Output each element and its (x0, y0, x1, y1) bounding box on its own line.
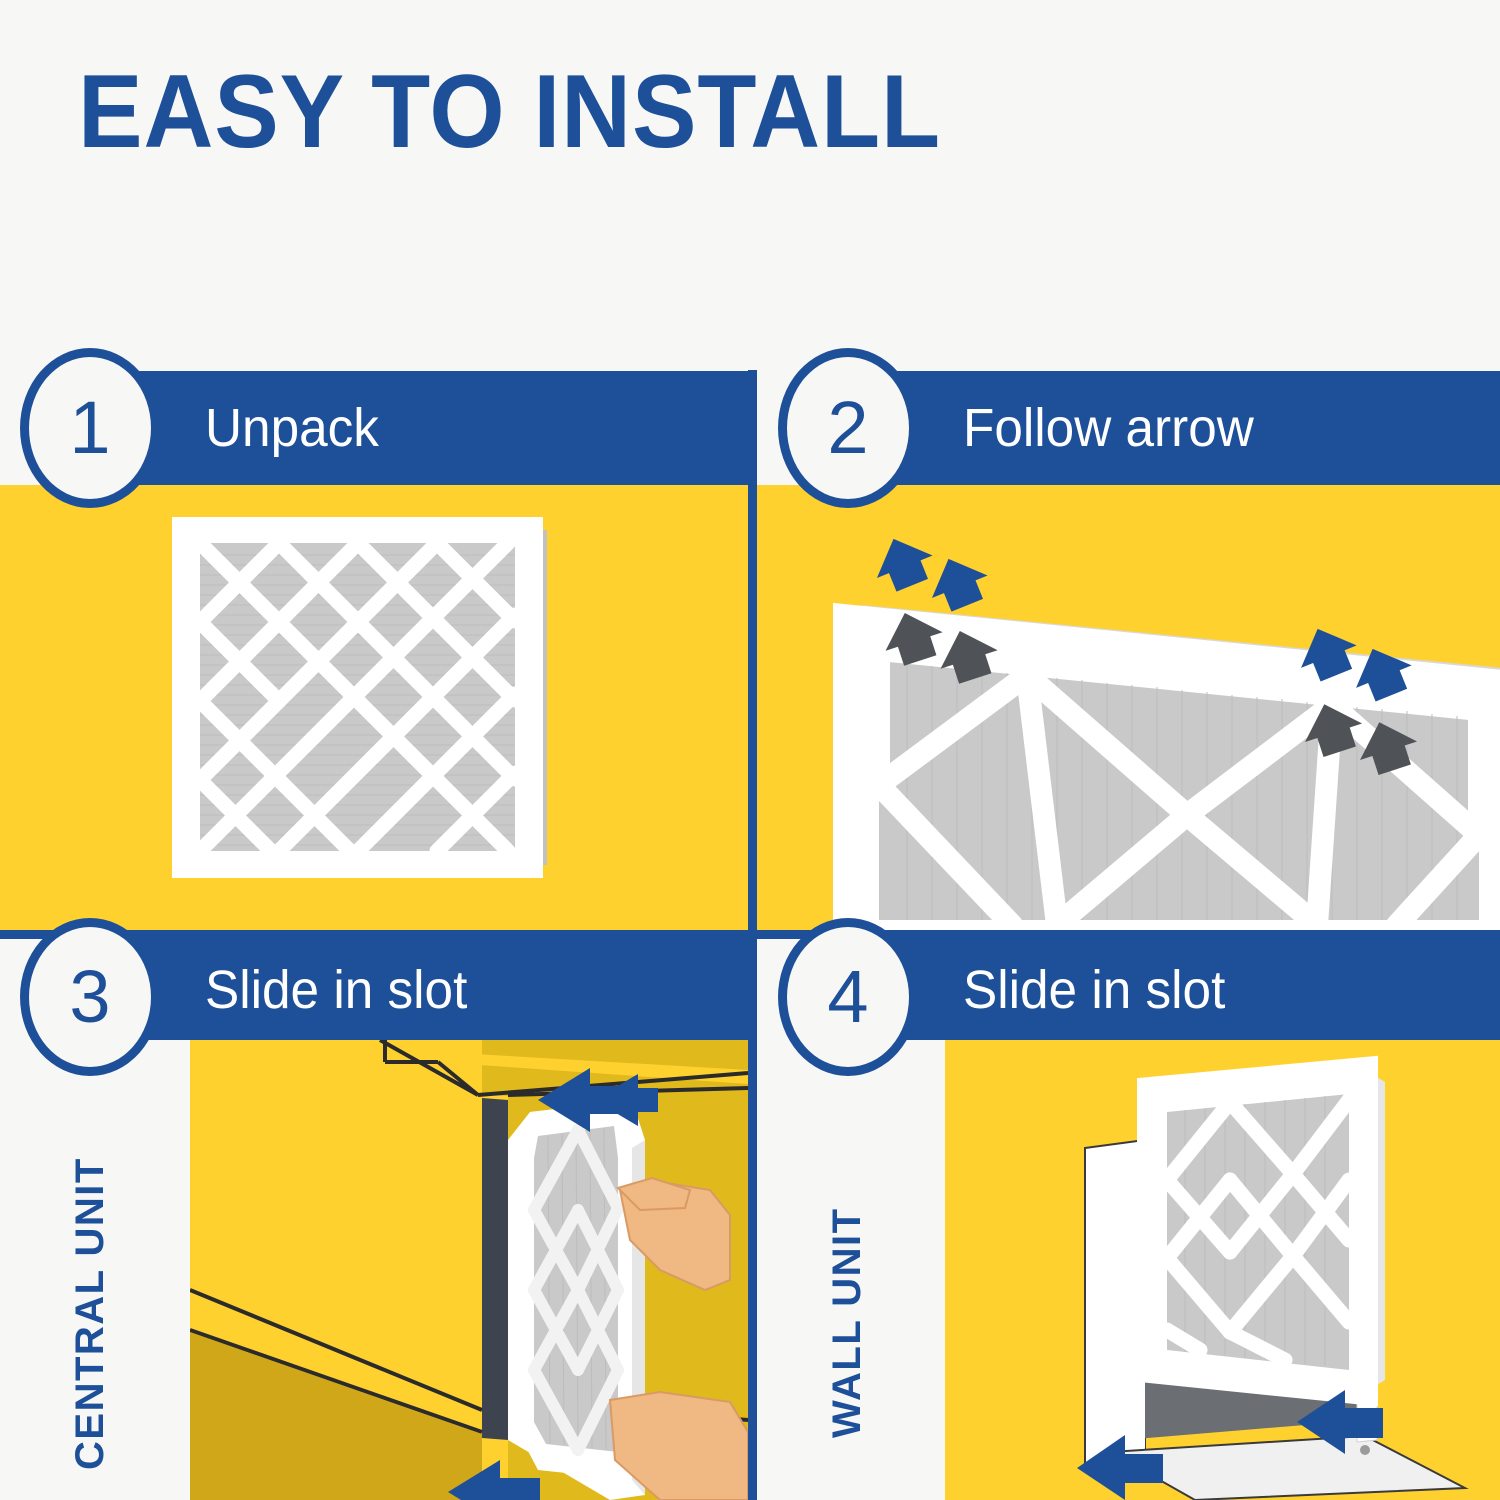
step-panel-1 (0, 485, 748, 930)
infographic-canvas: EASY TO INSTALL (0, 0, 1500, 1500)
step-panel-4 (945, 1040, 1500, 1500)
step-panel-3 (190, 1040, 748, 1500)
step-4-number-badge: 4 (778, 918, 918, 1076)
step-4-number: 4 (827, 960, 868, 1034)
row-divider (0, 930, 1500, 939)
airflow-arrow-blue-left (866, 528, 995, 617)
step-3-number-badge: 3 (20, 918, 160, 1076)
step-1-banner: Unpack (80, 371, 748, 485)
step-4-label: Slide in slot (963, 963, 1225, 1017)
filter-panel (1150, 1070, 1385, 1392)
page-title: EASY TO INSTALL (78, 60, 941, 164)
step-3-illustration (190, 1040, 748, 1500)
step-panel-2 (757, 485, 1500, 930)
step-4-side-label: WALL UNIT (825, 1207, 870, 1438)
step-1-number-badge: 1 (20, 348, 160, 508)
step-2-illustration (757, 485, 1500, 930)
step-3-label: Slide in slot (205, 963, 467, 1017)
step-4-illustration (945, 1040, 1500, 1500)
step-1-number: 1 (69, 391, 110, 465)
step-3-side-label: CENTRAL UNIT (68, 1157, 113, 1470)
step-4-banner: Slide in slot (838, 939, 1500, 1040)
step-2-number: 2 (827, 391, 868, 465)
step-3-banner: Slide in slot (80, 939, 748, 1040)
step-2-number-badge: 2 (778, 348, 918, 508)
step-1-label: Unpack (205, 401, 379, 455)
step-2-label: Follow arrow (963, 401, 1254, 455)
step-3-number: 3 (69, 960, 110, 1034)
step-1-illustration (0, 485, 748, 930)
step-2-banner: Follow arrow (838, 371, 1500, 485)
